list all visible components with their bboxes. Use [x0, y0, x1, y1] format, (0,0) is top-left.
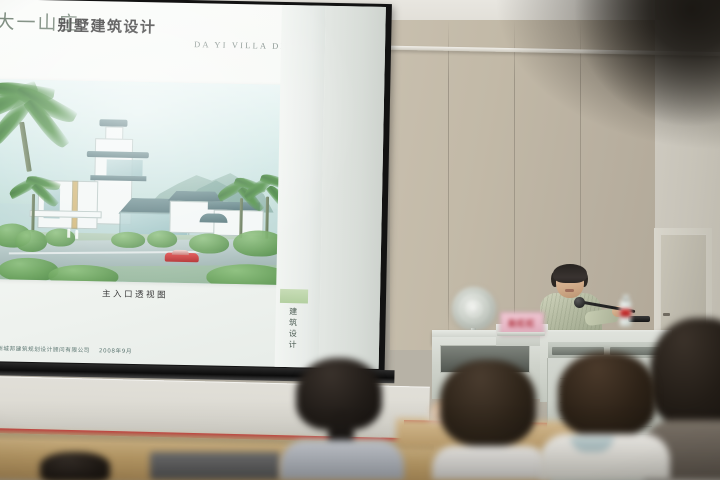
rendering-shrub	[189, 233, 229, 254]
clothing	[432, 446, 548, 480]
student-bottom-left	[40, 452, 110, 480]
slide-accent-box	[280, 289, 308, 304]
microphone	[574, 297, 585, 308]
hair	[40, 452, 110, 480]
nameplate-text: 赵红红	[509, 318, 536, 329]
nameplate-stand	[497, 332, 545, 336]
student-bob-center	[432, 360, 548, 480]
student-right	[540, 352, 670, 480]
chair-back	[150, 452, 280, 480]
hair	[440, 360, 536, 446]
rendering-tower-glazing	[106, 159, 142, 176]
slide-footer-company: 广州城邦建筑规划设计顾问有限公司	[0, 344, 90, 354]
rendering-shrub	[111, 232, 145, 249]
hair	[558, 352, 656, 436]
rendering-shrub	[147, 230, 177, 248]
architectural-rendering	[0, 79, 288, 285]
slide-title: 大一山庄 别墅建筑设计	[0, 7, 296, 43]
rendering-shrub	[15, 230, 47, 253]
slide-image-caption: 主入口透视图	[102, 287, 168, 300]
bottle-label	[620, 309, 631, 317]
presentation-slide: 大一山庄 别墅建筑设计 DA YI VILLA DESIGN	[0, 0, 386, 369]
microphone-base	[628, 316, 650, 322]
presenter-hair	[553, 264, 587, 283]
rendering-figure	[75, 230, 78, 239]
rendering-palm-left	[9, 171, 66, 230]
clothing	[280, 440, 404, 480]
slide-side-column	[274, 5, 325, 369]
lecture-hall-photo: 大一山庄 别墅建筑设计 DA YI VILLA DESIGN	[0, 0, 720, 480]
knit-texture	[280, 440, 404, 480]
rendering-palm-large	[0, 81, 100, 167]
door-handle[interactable]	[663, 313, 670, 316]
presenter-mouth	[565, 289, 574, 292]
student-ponytail	[276, 358, 406, 480]
slide-side-tab-text: 建筑设计	[284, 307, 299, 351]
rendering-shrub	[45, 228, 75, 247]
slide-right-margin	[318, 6, 385, 369]
rendering-car	[165, 253, 199, 263]
bottle-cap	[623, 295, 629, 301]
projection-screen: 大一山庄 别墅建筑设计 DA YI VILLA DESIGN	[0, 0, 392, 382]
fan-hub	[469, 304, 480, 315]
rendering-left-mullion	[71, 181, 78, 229]
slide-title-bold: 别墅建筑设计	[57, 14, 156, 37]
rendering-figure	[67, 229, 70, 238]
slide-footer-date: 2008年9月	[99, 346, 132, 355]
